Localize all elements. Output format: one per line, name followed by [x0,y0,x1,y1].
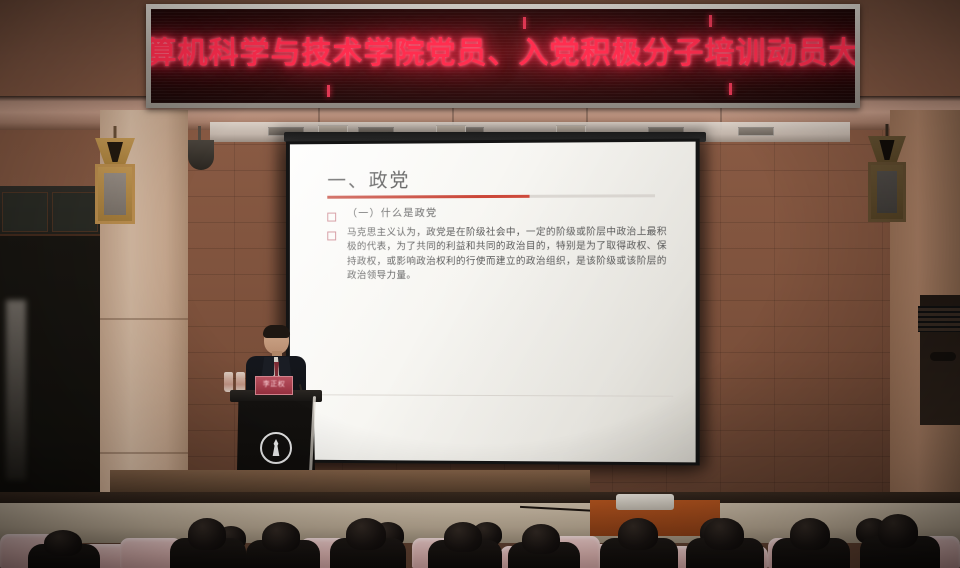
speaker-cabinet [95,164,135,224]
water-bottles [224,372,250,392]
led-panel: 计算机科学与技术学院党员、入党积极分子培训动员大会 [151,9,855,103]
speaker-horn [95,138,135,164]
pillar-seam [100,318,188,320]
speaker-cabinet [868,162,906,222]
air-conditioner-vent-icon [918,306,960,332]
speaker-bracket [886,124,889,138]
audience-head [618,518,658,550]
name-placard-text: 李正权 [256,377,292,392]
wall-speaker-left [95,138,135,224]
audience-section [0,498,960,568]
led-stray-pixel [729,83,732,95]
water-bottle [224,372,233,392]
led-banner-text: 计算机科学与技术学院党员、入党积极分子培训动员大会 [151,28,855,72]
university-emblem-icon [260,432,292,464]
wall-speaker-right [868,136,906,222]
projection-screen: 一、政党 （一）什么是政党 马克思主义认为，政党是在阶级社会中，一定的阶级或阶层… [286,139,700,466]
slide-title: 一、政党 [327,165,410,192]
bullet-text: 马克思主义认为，政党是在阶级社会中，一定的阶级或阶层中政治上最积极的代表，为了共… [347,225,667,284]
slide-footer-rule [312,394,674,396]
audience-head [704,518,744,550]
audience-head [44,530,82,556]
speaker-horn-throat [879,140,894,160]
auditorium-scene: 计算机科学与技术学院党员、入党积极分子培训动员大会 一、政党 [0,0,960,568]
led-stray-pixel [523,17,526,29]
ceiling-vent [738,127,774,136]
slide-canvas: 一、政党 （一）什么是政党 马克思主义认为，政党是在阶级社会中，一定的阶级或阶层… [290,142,696,463]
alcove-light-streak [6,300,26,480]
audience-head [878,514,918,548]
list-item: （一）什么是政党 [327,206,667,222]
alcove-window-pane [2,192,48,232]
speaker-horn-throat [107,142,123,162]
square-bullet-icon [327,231,336,240]
led-stray-pixel [709,15,712,27]
led-stray-pixel [327,85,330,97]
square-bullet-icon [327,213,336,222]
air-conditioner-badge [930,352,956,361]
audience-head [346,518,386,550]
slide-bullet-list: （一）什么是政党 马克思主义认为，政党是在阶级社会中，一定的阶级或阶层中政治上最… [327,206,667,288]
water-bottle [236,372,245,392]
pillar-seam [100,452,188,454]
audience-head [262,522,300,552]
speaker-grille [877,171,897,213]
name-placard: 李正权 [255,376,293,395]
list-item: 马克思主义认为，政党是在阶级社会中，一定的阶级或阶层中政治上最积极的代表，为了共… [327,225,667,284]
audience-head [188,518,226,550]
audience-head [444,522,482,552]
slide-title-rule [327,194,655,198]
speaker-bracket [114,126,117,140]
audience-head [522,524,560,554]
glasses-icon [267,337,286,342]
alcove-window-pane [52,192,98,232]
speaker-grille [104,173,126,215]
ceiling-dome-light [188,140,214,170]
led-banner: 计算机科学与技术学院党员、入党积极分子培训动员大会 [146,4,860,108]
bullet-text: （一）什么是政党 [347,207,437,222]
speaker-horn [868,136,906,162]
audience-head [790,518,830,550]
